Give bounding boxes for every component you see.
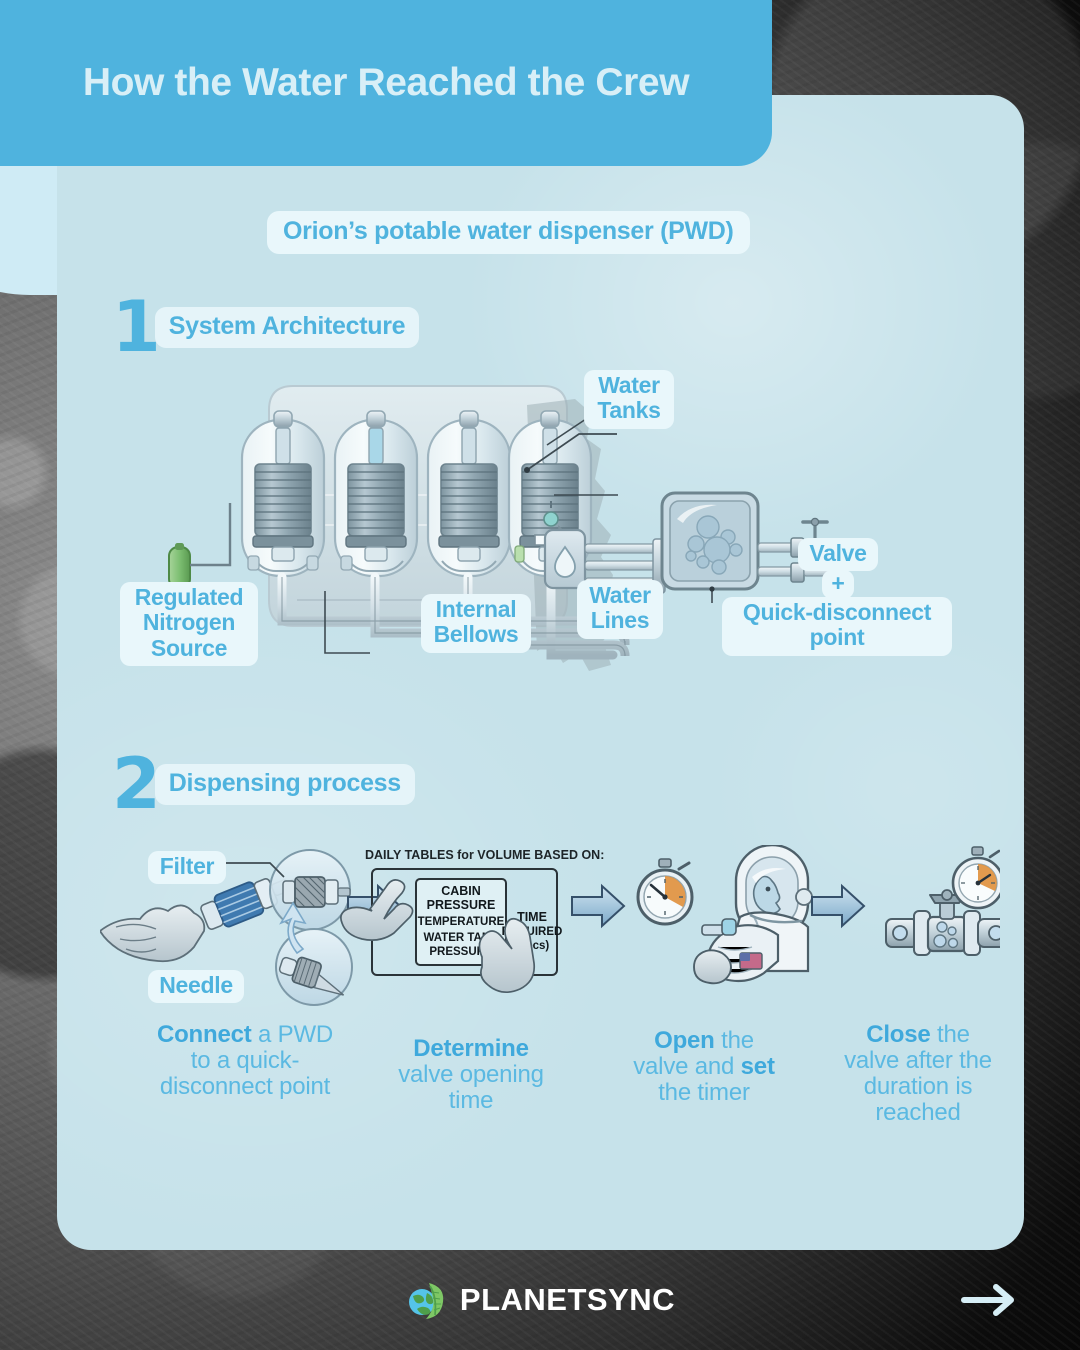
section-label-2: Dispensing process — [155, 764, 415, 805]
step-1-bold: Connect — [157, 1021, 252, 1048]
step-caption-1: Connect a PWD to a quick-disconnect poin… — [150, 1022, 340, 1100]
label-water-lines: WaterLines — [577, 580, 663, 639]
step-4-illustration — [886, 847, 1000, 955]
subtitle-pill: Orion’s potable water dispenser (PWD) — [267, 211, 750, 254]
step-3-bold: Open — [654, 1027, 715, 1054]
table-row-temperature: TEMPERATURE — [418, 916, 505, 928]
section-number-2: 2 — [112, 757, 161, 812]
header-banner: How the Water Reached the Crew — [0, 0, 772, 166]
step-2-rest: valve opening time — [398, 1061, 544, 1114]
page-title: How the Water Reached the Crew — [36, 61, 736, 105]
brand-logo: PLANETSYNC — [405, 1279, 675, 1321]
section-heading-system-architecture: 1 System Architecture — [112, 300, 419, 355]
table-row-cabin: CABIN — [441, 884, 481, 898]
step-2-bold: Determine — [413, 1035, 529, 1062]
step-3-illustration — [638, 845, 812, 983]
label-valve-plus: + — [822, 570, 854, 599]
label-filter: Filter — [148, 851, 226, 884]
label-valve: Valve — [798, 538, 878, 571]
step-caption-4: Close the valve after the duration is re… — [838, 1022, 998, 1126]
process-arrow-2-icon — [572, 886, 624, 926]
step-4-bold: Close — [866, 1021, 930, 1048]
planetsync-globe-leaf-icon — [405, 1279, 447, 1321]
label-quick-disconnect-point: Quick-disconnectpoint — [722, 597, 952, 656]
section-label-1: System Architecture — [155, 307, 420, 348]
label-needle: Needle — [148, 970, 244, 1003]
label-regulated-nitrogen-source: RegulatedNitrogenSource — [120, 582, 258, 666]
arrow-right-icon[interactable] — [958, 1280, 1022, 1320]
subtitle-text: Orion’s potable water dispenser (PWD) — [283, 217, 734, 245]
step-3-bold-2: set — [741, 1053, 775, 1080]
step-caption-2: Determine valve opening time — [385, 1036, 557, 1114]
section-number-1: 1 — [112, 300, 161, 355]
process-arrow-3-icon — [812, 886, 864, 926]
brand-name: PLANETSYNC — [460, 1282, 675, 1318]
label-internal-bellows: InternalBellows — [421, 594, 531, 653]
label-water-tanks: WaterTanks — [584, 370, 674, 429]
footer: PLANETSYNC — [0, 1250, 1080, 1350]
step-caption-3: Open the valve and set the timer — [628, 1028, 780, 1106]
step-2-illustration: DAILY TABLES for VOLUME BASED ON: CABIN … — [341, 848, 605, 992]
daily-tables-heading: DAILY TABLES for VOLUME BASED ON: — [365, 848, 604, 862]
table-row-pressure: PRESSURE — [427, 898, 496, 912]
section-heading-dispensing-process: 2 Dispensing process — [112, 757, 415, 812]
step-3-rest-2: the timer — [658, 1079, 750, 1106]
